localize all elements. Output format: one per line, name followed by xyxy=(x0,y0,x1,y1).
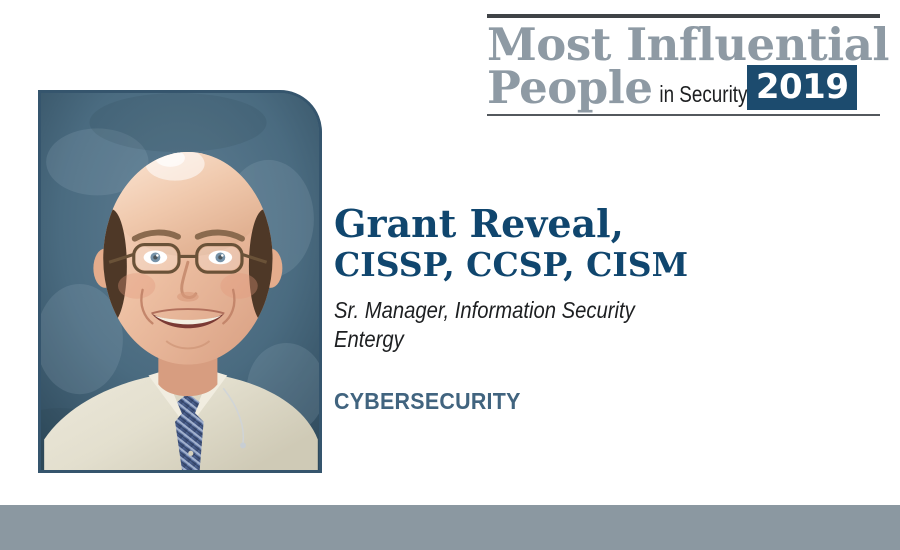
person-credentials: CISSP, CCSP, CISM xyxy=(334,246,814,284)
person-company: Entergy xyxy=(334,325,756,354)
footer-bar xyxy=(0,505,900,550)
person-info: Grant Reveal, CISSP, CCSP, CISM Sr. Mana… xyxy=(334,203,814,414)
portrait-photo xyxy=(38,90,322,473)
award-card: Most Influential People in Security 2019 xyxy=(0,0,900,550)
award-badge: Most Influential People in Security 2019 xyxy=(487,14,880,116)
badge-bottom-rule xyxy=(487,114,880,116)
badge-headline-people: People xyxy=(487,65,652,110)
badge-year: 2019 xyxy=(747,65,858,110)
portrait-illustration xyxy=(41,93,319,470)
person-name: Grant Reveal, xyxy=(334,203,814,245)
badge-qualifier-in-security: in Security xyxy=(652,83,747,110)
person-category: CYBERSECURITY xyxy=(334,388,780,414)
person-job-title: Sr. Manager, Information Security xyxy=(334,296,756,325)
